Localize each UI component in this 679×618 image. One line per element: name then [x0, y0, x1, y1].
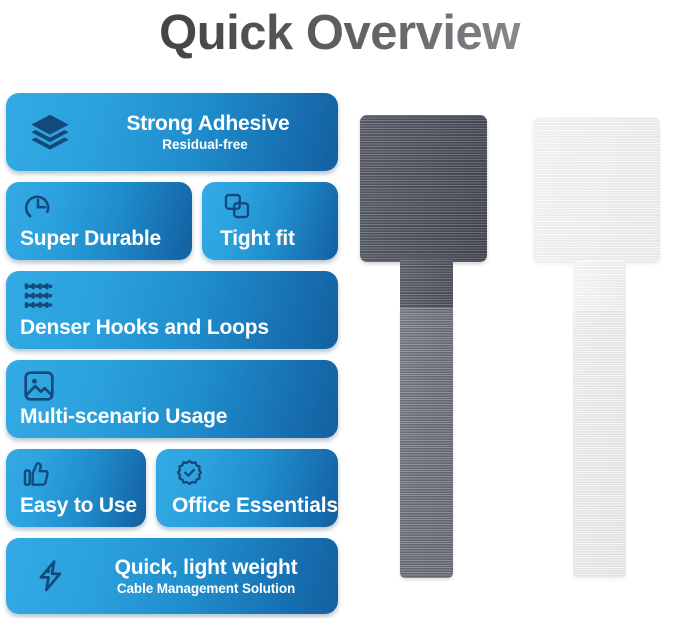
copy-squares-icon — [222, 191, 326, 221]
feature-row-2: Super Durable Tight fit — [6, 182, 338, 260]
quick-overview-page: Quick Overview Strong Adhesive Residual-… — [0, 0, 679, 618]
feature-card-text: Strong Adhesive Residual-free — [90, 111, 326, 154]
feature-title: Quick, light weight — [115, 556, 298, 579]
feature-title: Denser Hooks and Loops — [20, 315, 326, 340]
cable-tie-neck — [573, 261, 626, 312]
feature-row-1: Strong Adhesive Residual-free — [6, 93, 338, 171]
feature-card-strong-adhesive[interactable]: Strong Adhesive Residual-free — [6, 93, 338, 171]
layers-icon — [28, 110, 72, 154]
page-title: Quick Overview — [0, 2, 679, 64]
woven-mesh-icon — [22, 280, 326, 313]
feature-card-quick-light-weight[interactable]: Quick, light weight Cable Management Sol… — [6, 538, 338, 614]
feature-card-office-essentials[interactable]: Office Essentials — [156, 449, 338, 527]
thumbs-up-icon — [22, 458, 134, 490]
feature-title: Tight fit — [220, 226, 326, 251]
cable-tie-head — [360, 115, 487, 262]
feature-card-easy-to-use[interactable]: Easy to Use — [6, 449, 146, 527]
feature-title: Strong Adhesive — [126, 112, 289, 135]
feature-card-super-durable[interactable]: Super Durable — [6, 182, 192, 260]
picture-icon — [22, 369, 326, 403]
feature-title: Easy to Use — [20, 493, 134, 518]
product-image-dark-cable-tie — [360, 115, 487, 585]
feature-card-text: Quick, light weight Cable Management Sol… — [86, 555, 326, 598]
feature-card-list: Strong Adhesive Residual-free Super Dura… — [6, 93, 338, 618]
feature-title: Office Essentials — [172, 493, 326, 518]
feature-title: Super Durable — [20, 226, 180, 251]
feature-row-3: Denser Hooks and Loops — [6, 271, 338, 349]
feature-row-5: Easy to Use Office Essentials — [6, 449, 338, 527]
check-badge-icon — [174, 458, 326, 489]
feature-subtitle: Residual-free — [162, 137, 254, 152]
feature-subtitle: Cable Management Solution — [117, 581, 295, 596]
feature-row-6: Quick, light weight Cable Management Sol… — [6, 538, 338, 614]
cable-tie-neck — [400, 260, 453, 310]
lightning-bolt-icon — [34, 558, 70, 594]
cable-tie-strap — [573, 310, 626, 578]
cable-tie-head — [533, 117, 660, 263]
feature-card-denser-hooks-and-loops[interactable]: Denser Hooks and Loops — [6, 271, 338, 349]
feature-title: Multi-scenario Usage — [20, 404, 326, 429]
feature-card-multi-scenario-usage[interactable]: Multi-scenario Usage — [6, 360, 338, 438]
feature-card-tight-fit[interactable]: Tight fit — [202, 182, 338, 260]
feature-row-4: Multi-scenario Usage — [6, 360, 338, 438]
product-image-white-cable-tie — [533, 117, 660, 585]
clock-icon — [22, 191, 180, 223]
cable-tie-strap — [400, 308, 453, 578]
